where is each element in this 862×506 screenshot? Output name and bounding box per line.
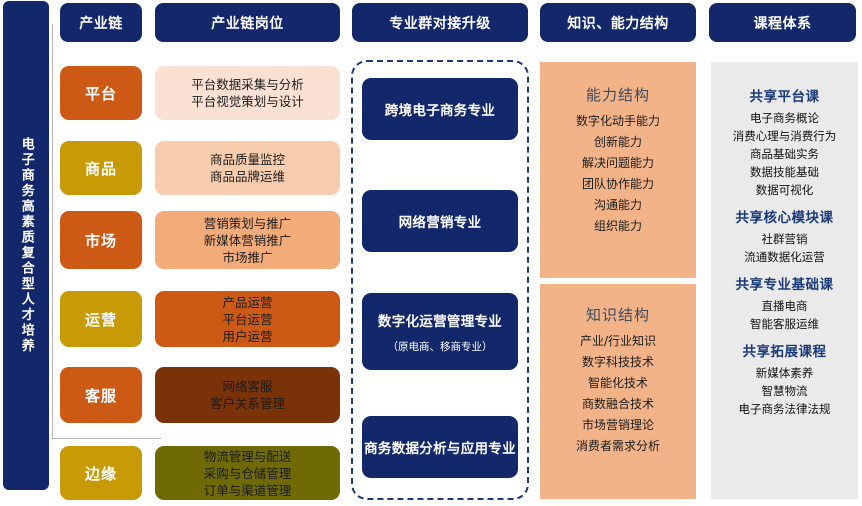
major-name: 网络营销专业 (399, 211, 482, 231)
diagram-root: 电子商务高素质复合型人才培养 产业链 产业链岗位 专业群对接升级 知识、能力结构… (0, 0, 862, 506)
structure-item: 解决问题能力 (582, 153, 654, 174)
chain-post-box: 营销策划与推广新媒体营销推广市场推广 (155, 211, 340, 269)
major-box: 商务数据分析与应用专业 (362, 416, 518, 478)
chain-post-line: 新媒体营销推广 (204, 232, 292, 249)
structure-item: 产业/行业知识 (580, 331, 656, 352)
course-group-title: 共享拓展课程 (743, 340, 827, 360)
chain-post-line: 产品运营 (222, 294, 272, 311)
header-label: 专业群对接升级 (389, 13, 491, 33)
major-box: 数字化运营管理专业（原电商、移商专业） (362, 293, 518, 370)
chain-node: 商品 (60, 141, 142, 195)
header-label: 产业链岗位 (211, 13, 284, 33)
header-industry-chain-posts: 产业链岗位 (155, 3, 340, 42)
course-item: 商品基础实务 (750, 145, 819, 163)
course-item: 社群营销 (762, 230, 808, 248)
structure-item: 消费者需求分析 (576, 436, 660, 457)
chain-post-line: 平台数据采集与分析 (191, 76, 304, 93)
structure-item: 数字科技技术 (582, 352, 654, 373)
structure-item: 创新能力 (594, 132, 642, 153)
structure-item: 组织能力 (594, 216, 642, 237)
course-item: 数据技能基础 (750, 163, 819, 181)
chain-post-box: 物流管理与配送采购与仓储管理订单与渠道管理 (155, 446, 340, 500)
chain-node: 市场 (60, 211, 142, 269)
chain-post-line: 用户运营 (222, 328, 272, 345)
course-group: 共享平台课电子商务概论消费心理与消费行为商品基础实务数据技能基础数据可视化 (711, 78, 858, 199)
chain-post-line: 商品品牌运维 (210, 168, 285, 185)
chain-post-line: 营销策划与推广 (204, 215, 292, 232)
course-item: 智能客服运维 (750, 315, 819, 333)
header-knowledge-ability-structure: 知识、能力结构 (540, 3, 696, 42)
chain-node-label: 客服 (85, 385, 117, 406)
structure-item: 数字化动手能力 (576, 111, 660, 132)
course-system-panel: 共享平台课电子商务概论消费心理与消费行为商品基础实务数据技能基础数据可视化共享核… (711, 62, 858, 499)
header-label: 课程体系 (754, 13, 812, 33)
chain-node: 运营 (60, 291, 142, 347)
course-item: 电子商务法律法规 (739, 400, 831, 418)
vertical-title-text: 电子商务高素质复合型人才培养 (16, 137, 36, 354)
vertical-title-banner: 电子商务高素质复合型人才培养 (3, 1, 49, 490)
chain-post-line: 市场推广 (222, 249, 272, 266)
chain-post-line: 采购与仓储管理 (204, 465, 292, 482)
course-group: 共享拓展课程新媒体素养智慧物流电子商务法律法规 (711, 333, 858, 418)
chain-node: 平台 (60, 66, 142, 120)
course-group-title: 共享平台课 (750, 85, 820, 105)
knowledge-structure-panel: 知识结构产业/行业知识数字科技技术智能化技术商数融合技术市场营销理论消费者需求分… (540, 284, 696, 499)
chain-node-label: 市场 (85, 230, 117, 251)
chain-post-line: 物流管理与配送 (204, 448, 292, 465)
structure-item: 沟通能力 (594, 195, 642, 216)
chain-node-label: 平台 (85, 83, 117, 104)
structure-item: 团队协作能力 (582, 174, 654, 195)
chain-node-label: 运营 (85, 309, 117, 330)
structure-title: 能力结构 (586, 84, 650, 105)
structure-title: 知识结构 (586, 304, 650, 325)
header-industry-chain: 产业链 (60, 3, 142, 42)
major-box: 网络营销专业 (362, 190, 518, 252)
chain-node-label: 边缘 (85, 463, 117, 484)
major-former-name: （原电商、移商专业） (388, 339, 493, 354)
chain-post-box: 商品质量监控商品品牌运维 (155, 141, 340, 195)
chain-post-box: 平台数据采集与分析平台视觉策划与设计 (155, 66, 340, 120)
course-item: 流通数据化运营 (744, 248, 825, 266)
course-group-title: 共享专业基础课 (736, 273, 834, 293)
chain-post-box: 产品运营平台运营用户运营 (155, 291, 340, 347)
course-group: 共享专业基础课直播电商智能客服运维 (711, 266, 858, 333)
chain-post-line: 客户关系管理 (210, 395, 285, 412)
course-item: 消费心理与消费行为 (733, 127, 837, 145)
chain-post-line: 商品质量监控 (210, 151, 285, 168)
chain-node-label: 商品 (85, 158, 117, 179)
chain-post-line: 网络客服 (222, 378, 272, 395)
header-label: 产业链 (79, 13, 123, 33)
chain-post-line: 平台运营 (222, 311, 272, 328)
major-name: 跨境电子商务专业 (385, 99, 495, 119)
course-group: 共享核心模块课社群营销流通数据化运营 (711, 199, 858, 266)
structure-item: 商数融合技术 (582, 394, 654, 415)
structure-item: 市场营销理论 (582, 415, 654, 436)
chain-post-line: 平台视觉策划与设计 (191, 93, 304, 110)
chain-node: 边缘 (60, 446, 142, 500)
header-major-group-upgrade: 专业群对接升级 (352, 3, 528, 42)
chain-post-box: 网络客服客户关系管理 (155, 367, 340, 423)
course-item: 电子商务概论 (750, 109, 819, 127)
structure-item: 智能化技术 (588, 373, 648, 394)
course-item: 数据可视化 (756, 181, 814, 199)
major-name: 商务数据分析与应用专业 (364, 437, 516, 457)
chain-node: 客服 (60, 367, 142, 423)
header-label: 知识、能力结构 (567, 13, 669, 33)
course-item: 直播电商 (762, 297, 808, 315)
major-name: 数字化运营管理专业 (378, 310, 502, 330)
course-item: 新媒体素养 (756, 364, 814, 382)
course-group-title: 共享核心模块课 (736, 206, 834, 226)
major-box: 跨境电子商务专业 (362, 78, 518, 140)
course-item: 智慧物流 (762, 382, 808, 400)
header-course-system: 课程体系 (709, 3, 856, 42)
capability-structure-panel: 能力结构数字化动手能力创新能力解决问题能力团队协作能力沟通能力组织能力 (540, 62, 696, 278)
chain-post-line: 订单与渠道管理 (204, 482, 292, 499)
